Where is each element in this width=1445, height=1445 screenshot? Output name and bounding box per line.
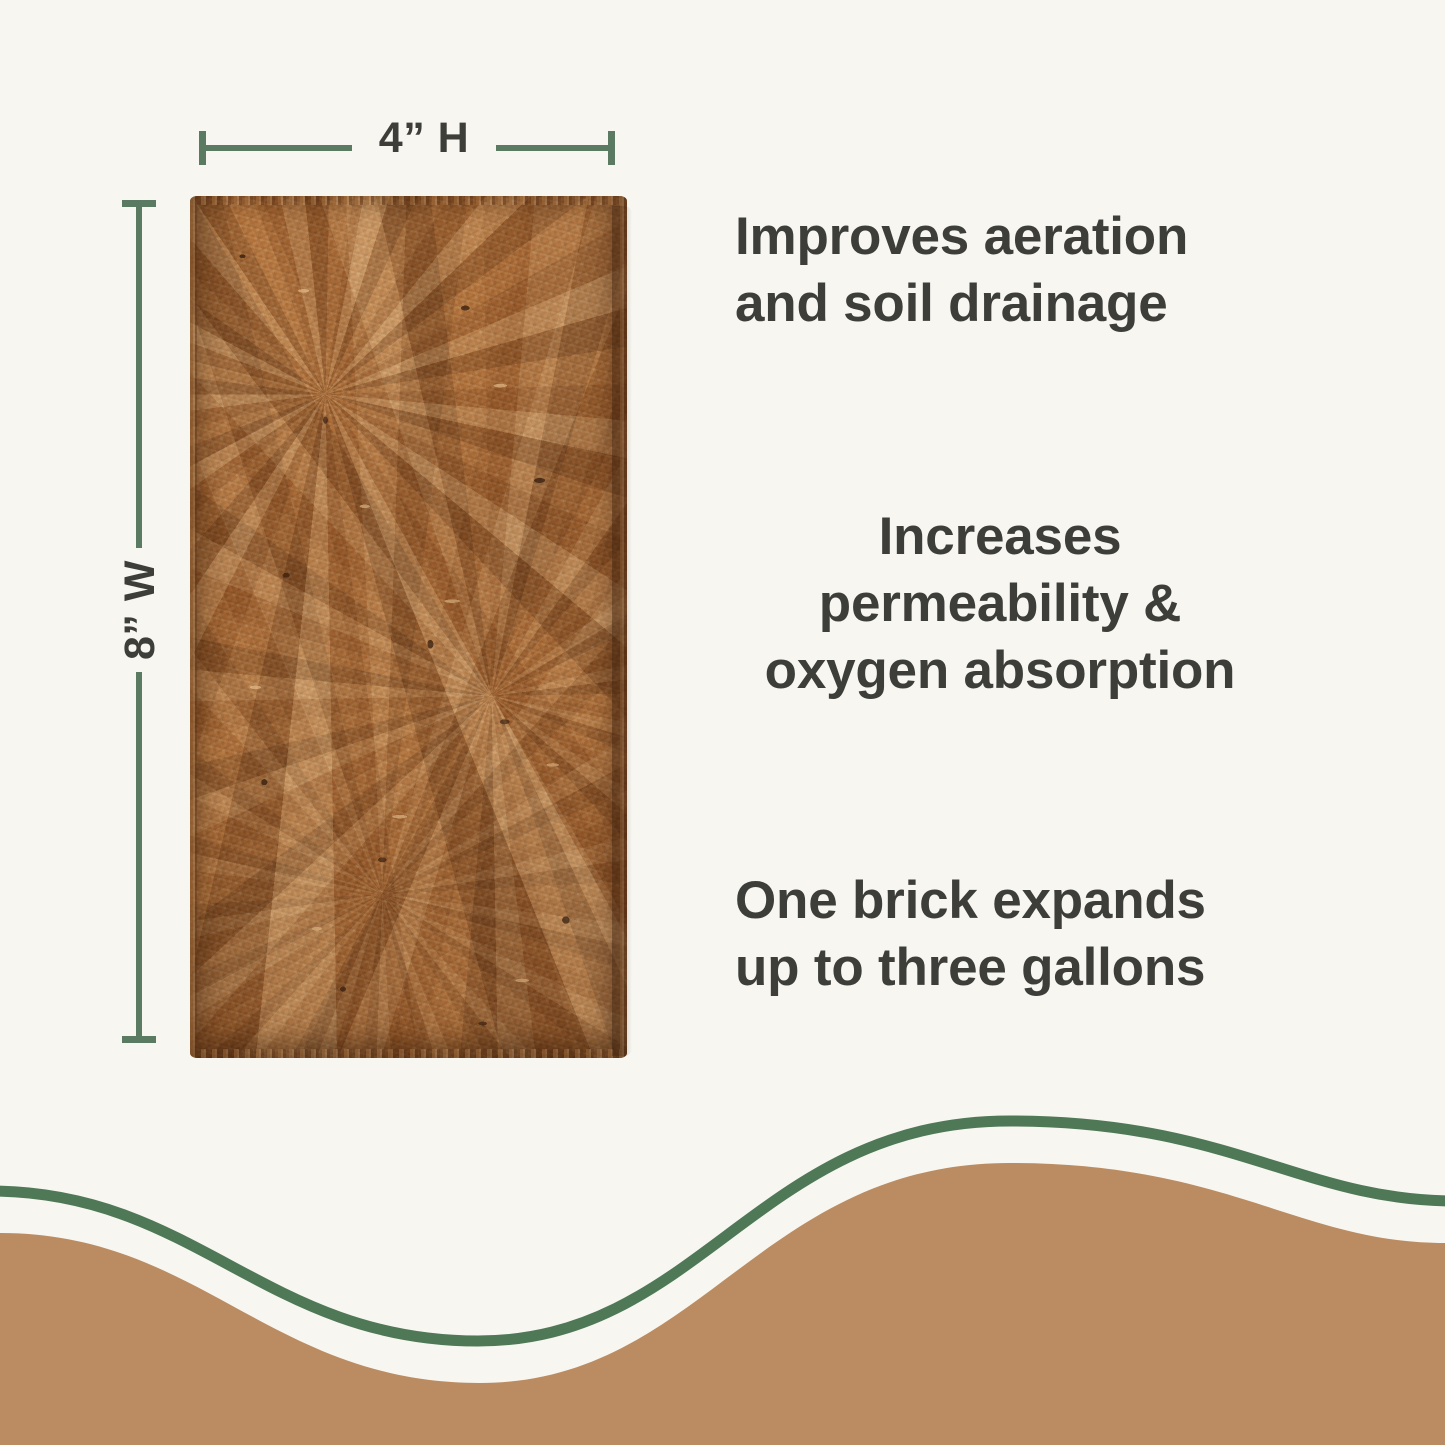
benefit-line: and soil drainage [735,271,1305,338]
benefit-line: Increases [690,504,1310,571]
benefit-text-aeration: Improves aeration and soil drainage [735,204,1305,338]
benefit-line: Improves aeration [735,204,1305,271]
width-dimension-label: 8” W [78,548,202,672]
horizontal-dimension-cap-right [608,131,615,165]
horizontal-dimension-cap-left [199,131,206,165]
benefit-text-expansion: One brick expands up to three gallons [735,868,1305,1002]
benefit-line: permeability & [690,571,1310,638]
benefit-text-permeability: Increases permeability & oxygen absorpti… [690,504,1310,704]
footer-wave-decoration [0,1115,1445,1445]
coco-coir-brick-image [190,196,627,1058]
benefit-line: up to three gallons [735,935,1305,1002]
height-dimension-label: 4” H [352,113,496,164]
benefit-line: One brick expands [735,868,1305,935]
benefit-line: oxygen absorption [690,638,1310,705]
vertical-dimension-cap-bottom [122,1036,156,1043]
vertical-dimension-cap-top [122,200,156,207]
brick-texture [190,196,627,1058]
wave-tan-fill [0,1163,1445,1445]
infographic-canvas: 4” H 8” W Improves aeration and soil dra… [0,0,1445,1445]
